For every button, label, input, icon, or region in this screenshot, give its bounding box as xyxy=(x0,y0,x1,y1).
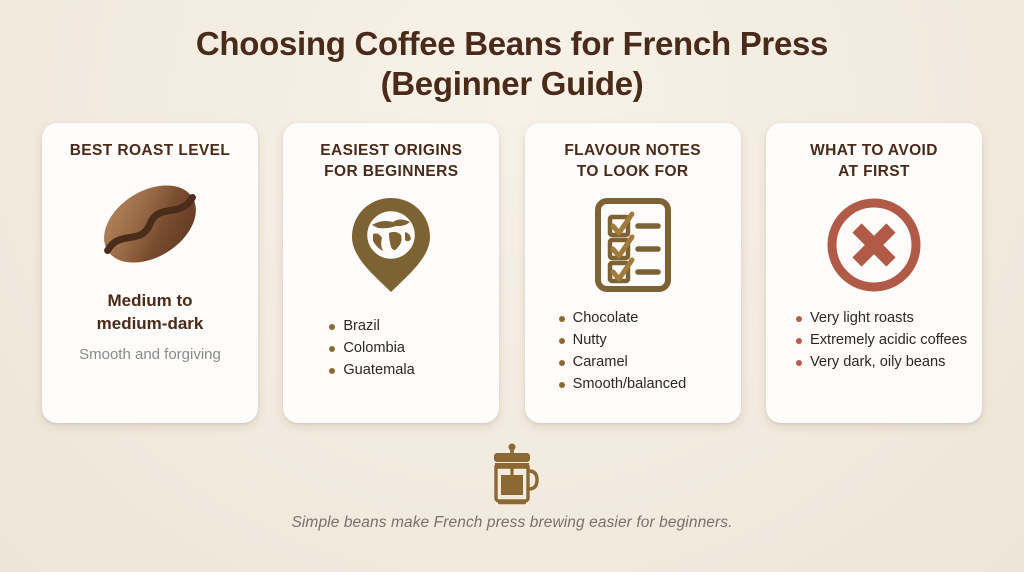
poster-title: Choosing Coffee Beans for French Press (… xyxy=(62,24,962,104)
french-press-icon xyxy=(484,443,540,505)
list-item: Extremely acidic coffees xyxy=(796,330,988,351)
list-item: Colombia xyxy=(329,338,521,359)
infographic-poster: Choosing Coffee Beans for French Press (… xyxy=(0,0,1024,572)
card-title: WHAT TO AVOID AT FIRST xyxy=(810,140,938,182)
avoid-list: Very light roasts Extremely acidic coffe… xyxy=(778,308,988,374)
card-best-roast-level: BEST ROAST LEVEL xyxy=(42,123,258,423)
coffee-bean-icon xyxy=(91,172,209,276)
roast-subtext: Smooth and forgiving xyxy=(54,344,246,366)
footer-caption: Simple beans make French press brewing e… xyxy=(291,514,732,532)
list-item: Caramel xyxy=(559,352,751,373)
title-line-1: Choosing Coffee Beans for French Press xyxy=(62,24,962,64)
flavour-list: Chocolate Nutty Caramel Smooth/balanced xyxy=(537,308,751,396)
list-item: Very dark, oily beans xyxy=(796,352,988,373)
globe-map-pin-icon xyxy=(348,195,434,295)
title-line-2: (Beginner Guide) xyxy=(62,64,962,104)
list-item: Brazil xyxy=(329,316,521,337)
checklist-icon xyxy=(586,195,680,295)
list-item: Chocolate xyxy=(559,308,751,329)
list-item: Smooth/balanced xyxy=(559,374,751,395)
poster-footer: Simple beans make French press brewing e… xyxy=(291,443,732,532)
card-row: BEST ROAST LEVEL xyxy=(42,123,982,423)
origins-list: Brazil Colombia Guatemala xyxy=(295,316,521,382)
list-item: Guatemala xyxy=(329,360,521,381)
card-body: Medium to medium-dark Smooth and forgivi… xyxy=(54,289,246,366)
icon-container xyxy=(54,165,246,283)
card-what-to-avoid: WHAT TO AVOID AT FIRST Very light roasts… xyxy=(766,123,982,423)
card-title: BEST ROAST LEVEL xyxy=(70,140,231,161)
card-title: FLAVOUR NOTES TO LOOK FOR xyxy=(564,140,701,182)
card-flavour-notes: FLAVOUR NOTES TO LOOK FOR xyxy=(525,123,741,423)
icon-container xyxy=(537,186,729,304)
roast-headline: Medium to medium-dark xyxy=(54,289,246,335)
card-title: EASIEST ORIGINS FOR BEGINNERS xyxy=(320,140,462,182)
card-easiest-origins: EASIEST ORIGINS FOR BEGINNERS Brazil C xyxy=(283,123,499,423)
circle-x-icon xyxy=(824,195,924,295)
list-item: Nutty xyxy=(559,330,751,351)
icon-container xyxy=(295,186,487,304)
icon-container xyxy=(778,186,970,304)
list-item: Very light roasts xyxy=(796,308,988,329)
